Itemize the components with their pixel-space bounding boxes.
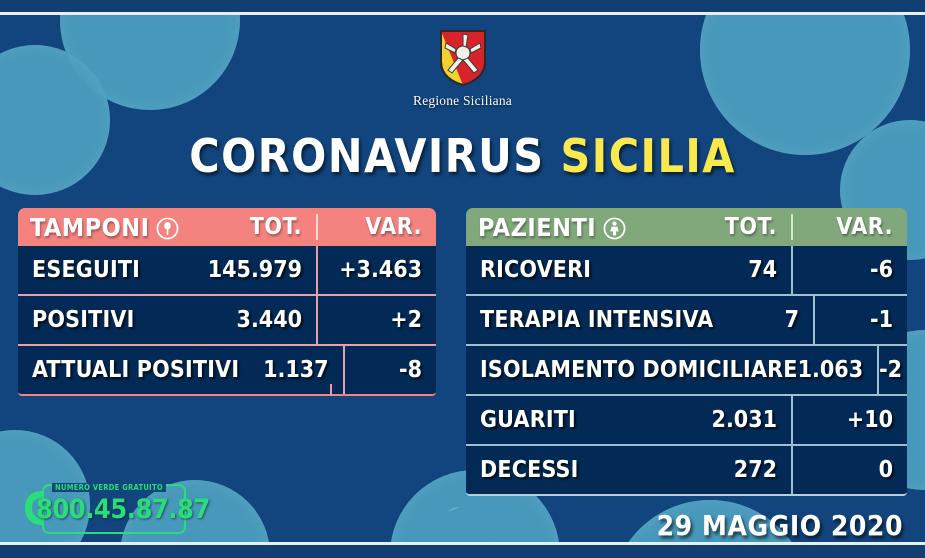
toll-free-number: 800.45.87.87 bbox=[36, 494, 210, 525]
table-tamponi-title: TAMPONI bbox=[18, 213, 182, 242]
content-panel: Regione Siciliana CORONAVIRUS SICILIA TA… bbox=[0, 15, 925, 543]
row-label: ISOLAMENTO DOMICILIARE bbox=[466, 357, 798, 383]
row-total: 1.137 bbox=[239, 357, 342, 383]
table-tamponi-col-var: VAR. bbox=[316, 214, 436, 240]
brand-block: Regione Siciliana bbox=[0, 29, 925, 109]
row-variation: +3.463 bbox=[316, 246, 436, 294]
row-total: 7 bbox=[713, 307, 813, 333]
table-pazienti-body: RICOVERI 74 -6 TERAPIA INTENSIVA 7 -1 IS… bbox=[466, 246, 907, 496]
swab-icon bbox=[156, 217, 179, 240]
table-tamponi-body: ESEGUITI 145.979 +3.463 POSITIVI 3.440 +… bbox=[18, 246, 436, 396]
table-row: RICOVERI 74 -6 bbox=[466, 246, 907, 294]
table-row: POSITIVI 3.440 +2 bbox=[18, 294, 436, 344]
table-pazienti-header: PAZIENTI TOT. VAR. bbox=[466, 208, 907, 246]
table-row: GUARITI 2.031 +10 bbox=[466, 394, 907, 444]
toll-free-badge[interactable]: NUMERO VERDE GRATUITO 800.45.87.87 bbox=[16, 482, 184, 534]
pazienti-label: PAZIENTI bbox=[478, 213, 596, 242]
row-label: DECESSI bbox=[466, 457, 667, 483]
row-label: GUARITI bbox=[466, 407, 667, 433]
row-variation: -8 bbox=[343, 346, 436, 394]
trinacria-coat-of-arms-icon bbox=[438, 29, 488, 87]
table-row: DECESSI 272 0 bbox=[466, 444, 907, 494]
row-variation: +2 bbox=[316, 296, 436, 344]
row-variation: -6 bbox=[791, 246, 907, 294]
row-total: 74 bbox=[667, 257, 791, 283]
row-total: 3.440 bbox=[182, 307, 316, 333]
table-pazienti-col-tot: TOT. bbox=[667, 214, 791, 240]
table-pazienti-title: PAZIENTI bbox=[466, 213, 667, 242]
row-total: 2.031 bbox=[667, 407, 791, 433]
table-tamponi: TAMPONI TOT. VAR. ESEGUITI 145.979 bbox=[18, 208, 436, 396]
row-label: TERAPIA INTENSIVA bbox=[466, 307, 713, 333]
toll-free-label: NUMERO VERDE GRATUITO bbox=[52, 483, 166, 492]
table-tamponi-col-tot: TOT. bbox=[182, 214, 316, 240]
patient-icon bbox=[603, 217, 626, 240]
row-variation: -2 bbox=[877, 346, 907, 394]
row-label: ESEGUITI bbox=[18, 257, 182, 283]
row-variation: 0 bbox=[791, 446, 907, 494]
top-rule bbox=[0, 12, 925, 15]
table-pazienti-col-var: VAR. bbox=[791, 214, 907, 240]
row-variation: -1 bbox=[813, 296, 907, 344]
row-total: 1.063 bbox=[798, 357, 877, 383]
table-row: TERAPIA INTENSIVA 7 -1 bbox=[466, 294, 907, 344]
title-sicilia: SICILIA bbox=[561, 129, 736, 183]
table-row: ISOLAMENTO DOMICILIARE 1.063 -2 bbox=[466, 344, 907, 394]
row-label: RICOVERI bbox=[466, 257, 667, 283]
report-date: 29 MAGGIO 2020 bbox=[657, 509, 903, 542]
row-total: 145.979 bbox=[182, 257, 316, 283]
table-row: ESEGUITI 145.979 +3.463 bbox=[18, 246, 436, 294]
bottom-band bbox=[0, 545, 925, 558]
region-label: Regione Siciliana bbox=[0, 93, 925, 109]
table-tamponi-header: TAMPONI TOT. VAR. bbox=[18, 208, 436, 246]
row-label: ATTUALI POSITIVI bbox=[18, 357, 239, 383]
tamponi-label: TAMPONI bbox=[30, 213, 149, 242]
table-row: ATTUALI POSITIVI 1.137 -8 bbox=[18, 344, 436, 394]
row-total: 272 bbox=[667, 457, 791, 483]
table-pazienti: PAZIENTI TOT. VAR. RICOVERI 74 bbox=[466, 208, 907, 496]
bottom-rule bbox=[0, 542, 925, 545]
page-title: CORONAVIRUS SICILIA bbox=[0, 133, 925, 179]
top-band bbox=[0, 0, 925, 12]
title-coronavirus: CORONAVIRUS bbox=[189, 129, 544, 183]
row-variation: +10 bbox=[791, 396, 907, 444]
row-label: POSITIVI bbox=[18, 307, 182, 333]
infographic-canvas: Regione Siciliana CORONAVIRUS SICILIA TA… bbox=[0, 0, 925, 558]
